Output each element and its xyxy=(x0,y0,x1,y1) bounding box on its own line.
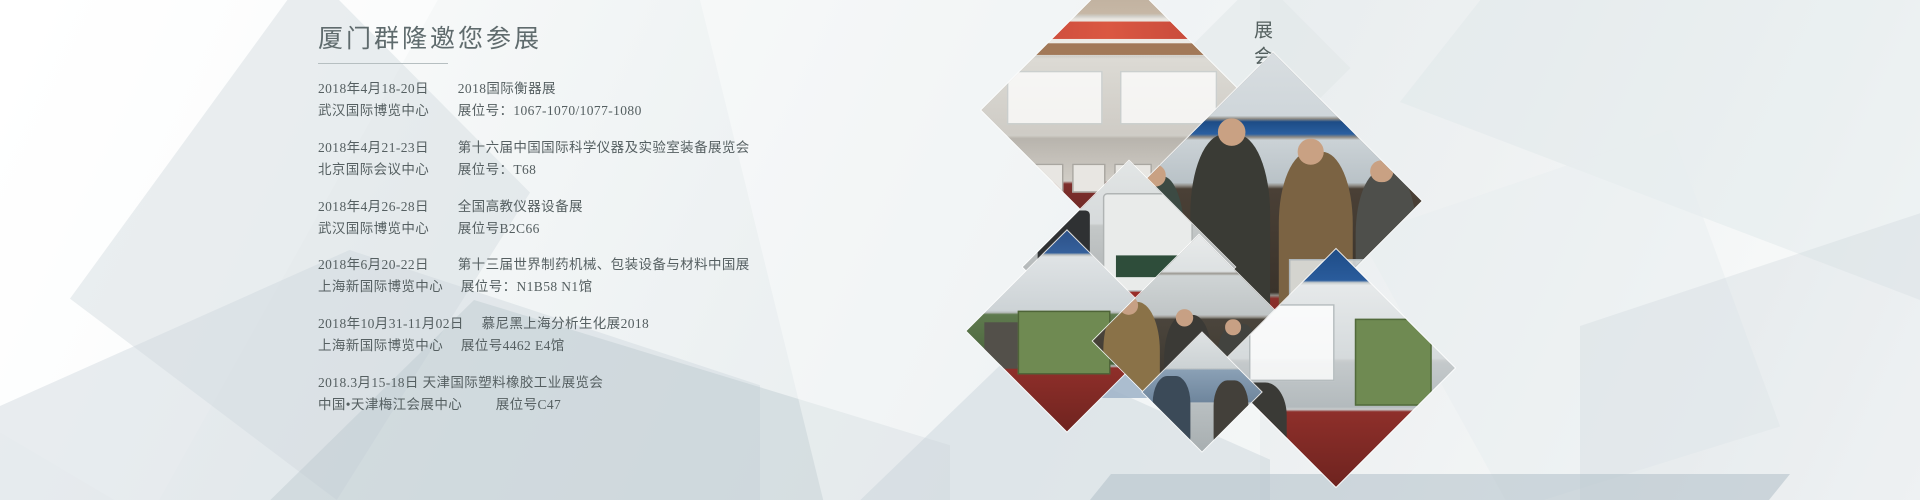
event-row-top: 2018年4月18-20日 2018国际衡器展 xyxy=(318,78,878,100)
person-left xyxy=(1153,376,1190,443)
attendee-head-2 xyxy=(1175,308,1192,325)
event-name: 第十三届世界制药机械、包装设备与材料中国展 xyxy=(444,254,750,276)
event-booth: 展位号C47 xyxy=(472,394,561,416)
background-decoration xyxy=(0,0,1920,500)
event-entry: 2018年10月31-11月02日 慕尼黑上海分析生化展2018 上海新国际博览… xyxy=(318,313,878,357)
device-1 xyxy=(1023,164,1063,192)
banner-sub xyxy=(1018,43,1206,55)
visitor-head-3 xyxy=(1297,139,1323,165)
event-name: 天津国际塑料橡胶工业展览会 xyxy=(423,372,604,394)
person-right xyxy=(1214,380,1248,443)
event-date: 2018年4月21-23日 xyxy=(318,137,440,159)
event-row-bottom: 中国•天津梅江会展中心 展位号C47 xyxy=(318,394,878,416)
event-entry: 2018年4月21-23日 第十六届中国国际科学仪器及实验室装备展览会 北京国际… xyxy=(318,137,878,181)
event-venue: 武汉国际博览中心 xyxy=(318,218,440,240)
bg-polygon-6 xyxy=(1400,0,1920,300)
event-booth: 展位号B2C66 xyxy=(444,218,540,240)
event-entry: 2018年6月20-22日 第十三届世界制药机械、包装设备与材料中国展 上海新国… xyxy=(318,254,878,298)
event-venue: 上海新国际博览中心 xyxy=(318,276,443,298)
event-name: 全国高教仪器设备展 xyxy=(444,196,583,218)
visitor-head-4 xyxy=(1370,160,1393,183)
event-row-top: 2018.3月15-18日 天津国际塑料橡胶工业展览会 xyxy=(318,372,878,394)
equipment-unit xyxy=(1355,319,1431,405)
poster-right xyxy=(1120,70,1217,124)
event-date: 2018年4月26-28日 xyxy=(318,196,440,218)
event-row-bottom: 上海新国际博览中心 展位号4462 E4馆 xyxy=(318,335,878,357)
event-row-top: 2018年4月26-28日 全国高教仪器设备展 xyxy=(318,196,878,218)
event-date: 2018.3月15-18日 xyxy=(318,372,419,394)
event-name: 2018国际衡器展 xyxy=(444,78,556,100)
exhibition-info-panel: 厦门群隆邀您参展 2018年4月18-20日 2018国际衡器展 武汉国际博览中… xyxy=(318,24,878,431)
event-row-bottom: 武汉国际博览中心 展位号：1067-1070/1077-1080 xyxy=(318,100,878,122)
event-row-bottom: 北京国际会议中心 展位号：T68 xyxy=(318,159,878,181)
event-venue: 上海新国际博览中心 xyxy=(318,335,443,357)
page-title: 厦门群隆邀您参展 xyxy=(318,24,878,55)
event-date: 2018年4月18-20日 xyxy=(318,78,440,100)
event-name: 慕尼黑上海分析生化展2018 xyxy=(468,313,650,335)
event-booth: 展位号：N1B58 N1馆 xyxy=(447,276,593,298)
banner-red xyxy=(995,22,1245,39)
poster-left xyxy=(1006,70,1103,124)
event-name: 第十六届中国国际科学仪器及实验室装备展览会 xyxy=(444,137,750,159)
event-booth: 展位号4462 E4馆 xyxy=(447,335,565,357)
event-date: 2018年10月31-11月02日 xyxy=(318,313,464,335)
photo-collage xyxy=(1040,0,1460,500)
event-row-bottom: 武汉国际博览中心 展位号B2C66 xyxy=(318,218,878,240)
event-entry: 2018年4月18-20日 2018国际衡器展 武汉国际博览中心 展位号：106… xyxy=(318,78,878,122)
event-entry: 2018.3月15-18日 天津国际塑料橡胶工业展览会 中国•天津梅江会展中心 … xyxy=(318,372,878,416)
event-booth: 展位号：1067-1070/1077-1080 xyxy=(444,100,642,122)
event-row-bottom: 上海新国际博览中心 展位号：N1B58 N1馆 xyxy=(318,276,878,298)
event-entry: 2018年4月26-28日 全国高教仪器设备展 武汉国际博览中心 展位号B2C6… xyxy=(318,196,878,240)
title-underline xyxy=(318,63,448,64)
bg-polygon-8 xyxy=(1580,200,1920,500)
event-booth: 展位号：T68 xyxy=(444,159,537,181)
event-venue: 北京国际会议中心 xyxy=(318,159,440,181)
event-venue: 中国•天津梅江会展中心 xyxy=(318,394,468,416)
event-row-top: 2018年4月21-23日 第十六届中国国际科学仪器及实验室装备展览会 xyxy=(318,137,878,159)
machine-side xyxy=(985,323,1018,368)
attendee-head-3 xyxy=(1225,319,1240,334)
event-venue: 武汉国际博览中心 xyxy=(318,100,440,122)
promo-banner: 厦门群隆邀您参展 2018年4月18-20日 2018国际衡器展 武汉国际博览中… xyxy=(0,0,1920,500)
event-date: 2018年6月20-22日 xyxy=(318,254,440,276)
event-row-top: 2018年10月31-11月02日 慕尼黑上海分析生化展2018 xyxy=(318,313,878,335)
event-row-top: 2018年6月20-22日 第十三届世界制药机械、包装设备与材料中国展 xyxy=(318,254,878,276)
